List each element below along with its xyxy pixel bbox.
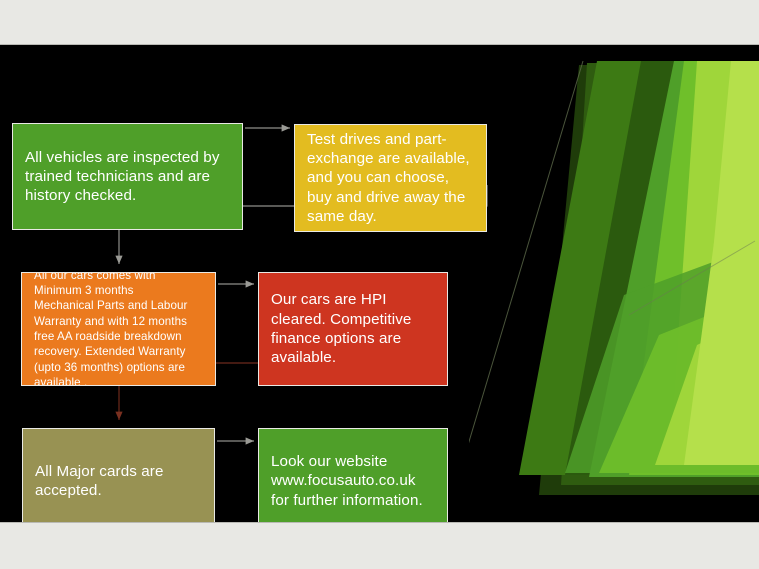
- artwork-shape-green: [589, 61, 759, 477]
- top-frame-band: [0, 0, 759, 45]
- flow-box-inspection[interactable]: All vehicles are inspected by trained te…: [12, 123, 243, 230]
- flow-box-testdrive[interactable]: Test drives and part- exchange are avail…: [294, 124, 487, 232]
- flow-box-website-text: Look our website www.focusauto.co.uk for…: [259, 452, 447, 510]
- artwork-shape-darkest: [539, 65, 759, 495]
- artwork-shape-mid-dark: [519, 61, 759, 475]
- artwork-shape-lime: [669, 61, 759, 470]
- artwork-bg: [469, 45, 759, 522]
- angular-green-graphic: [469, 45, 759, 522]
- flow-box-hpi-text: Our cars are HPI cleared. Competitive fi…: [259, 290, 447, 367]
- artwork-shape-overlay-d: [684, 215, 759, 465]
- flow-box-warranty-text: All our cars comes with Minimum 3 months…: [22, 272, 215, 386]
- artwork-shape-overlay-b: [599, 295, 759, 473]
- artwork-svg: [469, 45, 759, 522]
- flow-box-cards-text: All Major cards are accepted.: [23, 462, 214, 501]
- artwork-shape-overlay-c: [655, 315, 759, 465]
- bottom-frame-divider: [0, 522, 759, 523]
- artwork-shape-bright: [629, 61, 759, 475]
- artwork-shape-overlay-a: [565, 245, 759, 473]
- artwork-hairline-b: [629, 241, 755, 315]
- presentation-slide: All vehicles are inspected by trained te…: [0, 45, 759, 522]
- flow-box-testdrive-text: Test drives and part- exchange are avail…: [295, 130, 486, 226]
- artwork-shape-dark: [561, 63, 759, 485]
- artwork-shape-lightest: [693, 61, 759, 465]
- artwork-shape-wedge: [565, 61, 759, 475]
- top-frame-divider: [0, 44, 759, 45]
- flow-box-hpi[interactable]: Our cars are HPI cleared. Competitive fi…: [258, 272, 448, 386]
- slide-stage: All vehicles are inspected by trained te…: [0, 0, 759, 569]
- flow-box-website[interactable]: Look our website www.focusauto.co.uk for…: [258, 428, 448, 522]
- bottom-frame-band: [0, 522, 759, 569]
- flow-box-warranty[interactable]: All our cars comes with Minimum 3 months…: [21, 272, 216, 386]
- flow-box-cards[interactable]: All Major cards are accepted.: [22, 428, 215, 522]
- flow-box-inspection-text: All vehicles are inspected by trained te…: [13, 148, 242, 206]
